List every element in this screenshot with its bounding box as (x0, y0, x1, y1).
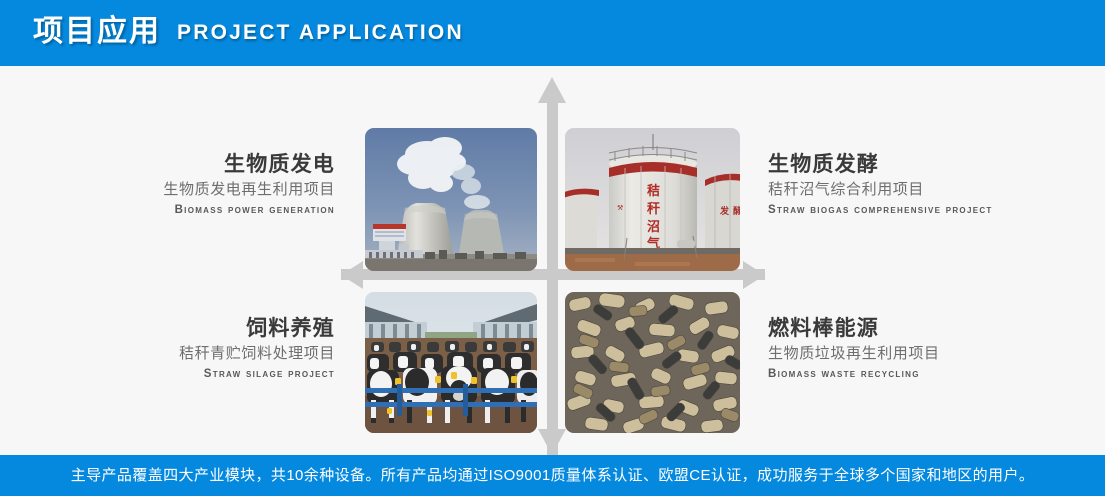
arrow-left-icon (341, 261, 363, 289)
quadrant-title: 燃料棒能源 (768, 316, 1068, 342)
footer-text: 主导产品覆盖四大产业模块，共10余种设备。所有产品均通过ISO9001质量体系认… (71, 468, 1035, 483)
quadrant-subtitle: 生物质发电再生利用项目 (60, 178, 335, 201)
biogas-storage-tanks-photo: 发 酵 秸 秆 (565, 128, 740, 271)
quadrant-subtitle: 生物质垃圾再生利用项目 (768, 342, 1068, 365)
arrow-right-icon (743, 261, 765, 289)
svg-text:沼: 沼 (647, 219, 660, 234)
quadrant-english: Biomass waste recycling (768, 366, 1068, 383)
quadrant-english: Biomass power generation (60, 202, 335, 219)
quadrant-title: 生物质发酵 (768, 152, 1068, 178)
quadrant-english: Straw silage project (60, 366, 335, 383)
biomass-fuel-pellets-photo (565, 292, 740, 433)
svg-text:酵: 酵 (733, 205, 740, 216)
power-plant-cooling-towers-photo (365, 128, 537, 271)
quadrant-subtitle: 秸秆青贮饲料处理项目 (60, 342, 335, 365)
svg-text:秆: 秆 (647, 201, 660, 216)
quadrant-caption-top-right: 生物质发酵 秸秆沼气综合利用项目 Straw biogas comprehens… (768, 152, 1068, 219)
page-title-cn: 项目应用 (33, 17, 161, 49)
page-title-en: PROJECT APPLICATION (177, 22, 464, 44)
header-title-group: 项目应用 PROJECT APPLICATION (33, 0, 464, 66)
quadrant-subtitle: 秸秆沼气综合利用项目 (768, 178, 1068, 201)
dairy-cattle-feedlot-photo (365, 292, 537, 433)
footer-banner: 主导产品覆盖四大产业模块，共10余种设备。所有产品均通过ISO9001质量体系认… (0, 455, 1105, 496)
svg-text:发: 发 (719, 205, 730, 216)
quadrant-title: 饲料养殖 (60, 316, 335, 342)
page-header-banner: 项目应用 PROJECT APPLICATION (0, 0, 1105, 66)
quadrant-title: 生物质发电 (60, 152, 335, 178)
svg-text:⚒: ⚒ (617, 204, 623, 212)
arrow-down-icon (538, 429, 566, 455)
quadrant-caption-bottom-left: 饲料养殖 秸秆青贮饲料处理项目 Straw silage project (60, 316, 335, 383)
diagram-stage: 发 酵 秸 秆 (0, 66, 1105, 455)
arrow-up-icon (538, 77, 566, 103)
quadrant-caption-top-left: 生物质发电 生物质发电再生利用项目 Biomass power generati… (60, 152, 335, 219)
svg-text:秸: 秸 (647, 183, 660, 198)
quadrant-caption-bottom-right: 燃料棒能源 生物质垃圾再生利用项目 Biomass waste recyclin… (768, 316, 1068, 383)
quadrant-english: Straw biogas comprehensive project (768, 202, 1068, 219)
